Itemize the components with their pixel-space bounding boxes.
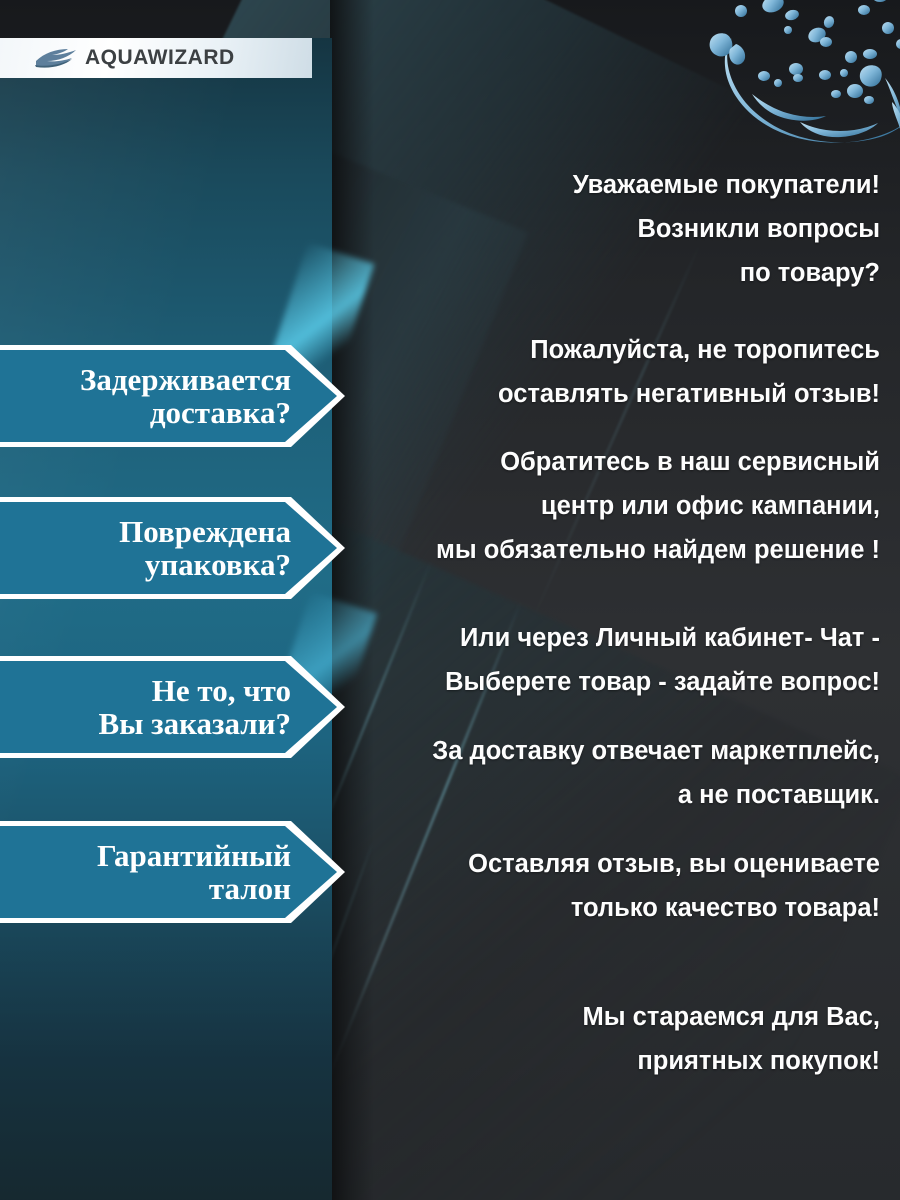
message-contact-service: Обратитесь в наш сервисный центр или офи… <box>330 440 880 572</box>
message-column: Уважаемые покупатели! Возникли вопросы п… <box>330 0 900 1200</box>
banner-label: Гарантийный талон <box>97 839 345 906</box>
banner-wrong-item[interactable]: Не то, что Вы заказали? <box>0 656 345 758</box>
banner-delivery-delayed[interactable]: Задерживается доставка? <box>0 345 345 447</box>
message-dont-rush: Пожалуйста, не торопитесь оставлять нега… <box>330 328 880 416</box>
wave-logo-icon <box>34 47 78 69</box>
message-closing: Мы стараемся для Вас, приятных покупок! <box>330 995 880 1083</box>
banner-label: Повреждена упаковка? <box>119 515 345 582</box>
left-gradient-panel <box>0 38 332 1200</box>
promo-poster: AQUAWIZARD Задерживается доставка? Повре… <box>0 0 900 1200</box>
message-chat-instructions: Или через Личный кабинет- Чат - Выберете… <box>330 616 880 704</box>
banner-label: Задерживается доставка? <box>80 363 345 430</box>
banner-label: Не то, что Вы заказали? <box>99 674 345 741</box>
banner-damaged-package[interactable]: Повреждена упаковка? <box>0 497 345 599</box>
brand-logo: AQUAWIZARD <box>0 38 312 78</box>
message-review-scope: Оставляя отзыв, вы оцениваете только кач… <box>330 842 880 930</box>
brand-name: AQUAWIZARD <box>85 46 235 70</box>
message-greeting: Уважаемые покупатели! Возникли вопросы п… <box>330 163 880 295</box>
banner-warranty-card[interactable]: Гарантийный талон <box>0 821 345 923</box>
message-delivery-responsibility: За доставку отвечает маркетплейс, а не п… <box>330 729 880 817</box>
